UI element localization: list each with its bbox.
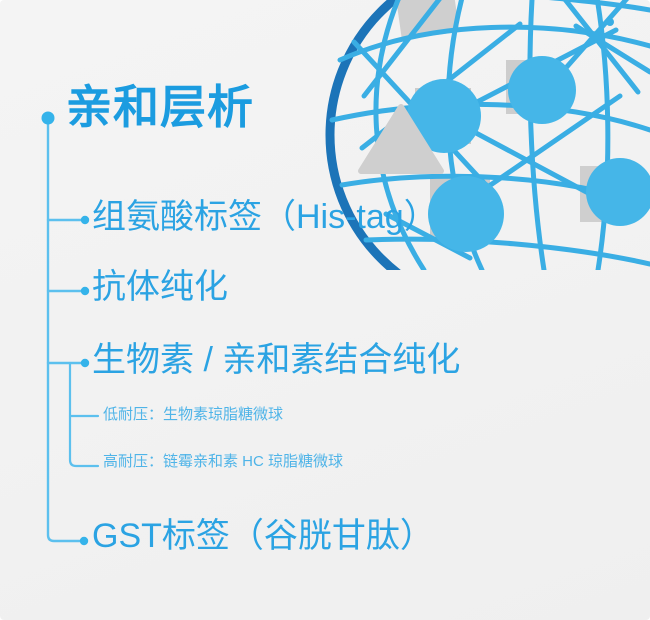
- tree-subitem-high-pressure[interactable]: 高耐压：链霉亲和素 HC 琼脂糖微球: [103, 454, 343, 469]
- tree-subitem-low-pressure[interactable]: 低耐压：生物素琼脂糖微球: [103, 407, 283, 422]
- trunk-line: [48, 118, 84, 541]
- tree-item-antibody-purification[interactable]: 抗体纯化: [92, 270, 228, 304]
- tree-item-his-tag[interactable]: 组氨酸标签（His-tag）: [92, 200, 438, 234]
- node-dot: [81, 216, 89, 224]
- slide-canvas: 亲和层析 组氨酸标签（His-tag） 抗体纯化 生物素 / 亲和素结合纯化 低…: [0, 0, 650, 620]
- root-node-dot: [42, 112, 55, 125]
- tree-item-gst-tag[interactable]: GST标签（谷胱甘肽）: [92, 519, 434, 553]
- page-title: 亲和层析: [66, 84, 254, 130]
- node-dot: [81, 359, 89, 367]
- node-dot: [81, 287, 89, 295]
- tree-item-biotin-avidin[interactable]: 生物素 / 亲和素结合纯化: [92, 343, 460, 377]
- node-dot: [80, 537, 88, 545]
